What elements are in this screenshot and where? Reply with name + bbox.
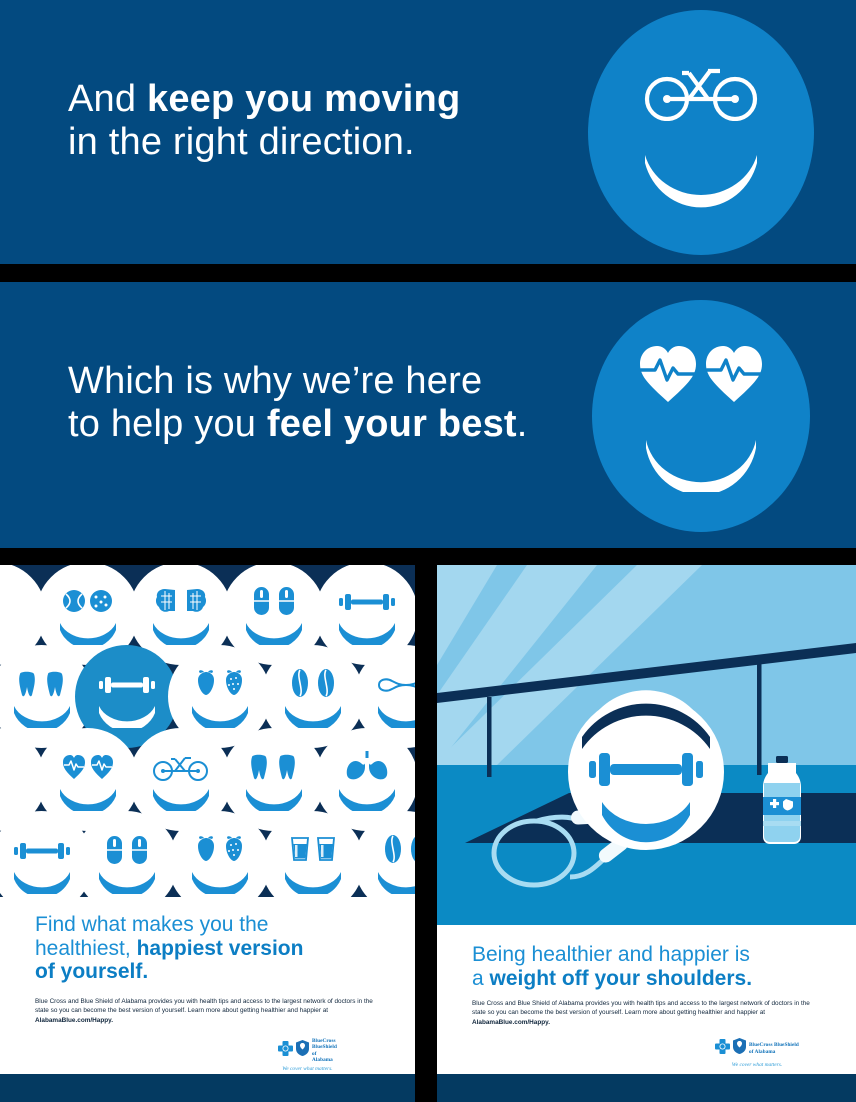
water-glass-icon: [261, 835, 364, 863]
coffee-bean-icon: [354, 833, 415, 865]
banner-keep-moving: And keep you moving in the right directi…: [0, 0, 856, 264]
smile-icon: [354, 702, 415, 730]
pill-capsule-icon: [222, 585, 325, 617]
poster-happiest-version: Find what makes you the healthiest, happ…: [0, 565, 415, 1102]
banner-1-face: [588, 10, 814, 255]
banner-1-line1-light: And: [68, 78, 147, 120]
smile-icon: [315, 619, 415, 647]
water-bottle-icon: [763, 756, 801, 844]
swim-goggles-icon: [354, 673, 415, 697]
banner-1-headline: And keep you moving in the right directi…: [68, 78, 460, 163]
bicycle-icon: [129, 752, 232, 782]
logo-line-2: of Alabama: [749, 1049, 799, 1055]
strawberry-icon: [168, 833, 271, 865]
dumbbell-icon: [75, 673, 178, 697]
headline-light-1: Being healthier and happier is: [472, 943, 750, 966]
strawberry-icon: [168, 667, 271, 699]
pill-capsule-icon: [75, 834, 178, 866]
logo-wordmark: BlueCross BlueShield of Alabama: [312, 1038, 337, 1063]
poster-left-footer-bar: [0, 1074, 415, 1102]
cross-icon: [715, 1039, 730, 1059]
banner-1-line2: in the right direction.: [68, 121, 415, 163]
headline-light-2: healthiest,: [35, 937, 137, 960]
headline-bold-1: weight off your shoulders.: [490, 967, 753, 990]
smile-icon: [315, 785, 415, 813]
tooth-icon: [222, 752, 325, 782]
heartbeat-eyes-icon: [592, 340, 810, 410]
brand-logo: BlueCross BlueShield of Alabama We cover…: [715, 1038, 799, 1068]
smile-icon: [222, 619, 325, 647]
poster-collection-page: And keep you moving in the right directi…: [0, 0, 856, 1102]
smile-icon: [261, 868, 364, 896]
banner-2-line2-bold: feel your best: [267, 403, 517, 445]
smile-icon: [222, 785, 325, 813]
heartbeat-icon: [36, 752, 139, 782]
poster-right-body: Blue Cross and Blue Shield of Alabama pr…: [472, 999, 824, 1027]
coffee-bean-icon: [261, 667, 364, 699]
smile-icon: [592, 424, 810, 504]
cross-icon: [278, 1041, 293, 1061]
shield-icon: [296, 1040, 309, 1061]
smile-icon: [354, 868, 415, 896]
lungs-icon: [315, 750, 415, 782]
headline-bold-1: happiest version: [137, 937, 304, 960]
logo-tagline: We cover what matters.: [278, 1066, 337, 1072]
dumbbell-icon: [315, 590, 415, 614]
smile-icon: [168, 702, 271, 730]
body-link[interactable]: AlabamaBlue.com/Happy.: [472, 1019, 550, 1026]
logo-line-2: of Alabama: [312, 1051, 337, 1064]
smile-icon: [75, 702, 178, 730]
smile-icon: [588, 140, 814, 220]
banner-2-line2-light: to help you: [68, 403, 267, 445]
smile-icon: [75, 868, 178, 896]
smile-icon: [168, 868, 271, 896]
headline-light-2: a: [472, 967, 490, 990]
banner-2-line2-tail: .: [517, 403, 528, 445]
banner-2-headline: Which is why we’re here to help you feel…: [68, 360, 528, 445]
smile-icon: [261, 702, 364, 730]
logo-wordmark: BlueCross BlueShield of Alabama: [749, 1042, 799, 1055]
smile-icon: [129, 785, 232, 813]
shield-icon: [733, 1038, 746, 1059]
logo-tagline: We cover what matters.: [715, 1062, 799, 1068]
logo-line-1: BlueCross BlueShield: [749, 1042, 799, 1048]
body-text: Blue Cross and Blue Shield of Alabama pr…: [35, 998, 373, 1014]
body-link[interactable]: AlabamaBlue.com/Happy.: [35, 1017, 113, 1024]
gym-scene: [437, 565, 856, 925]
tennis-ball-icon: [36, 586, 139, 616]
bicycle-icon: [588, 50, 814, 130]
banner-2-face: [592, 300, 810, 532]
poster-left-headline: Find what makes you the healthiest, happ…: [35, 913, 395, 984]
smiley-icon-grid: [0, 565, 415, 897]
banner-feel-your-best: Which is why we’re here to help you feel…: [0, 282, 856, 548]
poster-right-footer-bar: [437, 1074, 856, 1102]
logo-line-1: BlueCross BlueShield: [312, 1038, 337, 1051]
smile-icon: [36, 619, 139, 647]
headline-light-1: Find what makes you the: [35, 913, 268, 936]
poster-weight-off-shoulders: Being healthier and happier is a weight …: [437, 565, 856, 1102]
smile-icon: [36, 785, 139, 813]
smile-icon: [129, 619, 232, 647]
banner-1-line1-bold: keep you moving: [147, 78, 460, 120]
poster-right-headline: Being healthier and happier is a weight …: [472, 943, 842, 990]
poster-left-body: Blue Cross and Blue Shield of Alabama pr…: [35, 997, 385, 1025]
headline-bold-2: of yourself.: [35, 960, 148, 983]
brain-icon: [129, 586, 232, 616]
banner-2-line1: Which is why we’re here: [68, 360, 482, 402]
body-text: Blue Cross and Blue Shield of Alabama pr…: [472, 1000, 810, 1016]
